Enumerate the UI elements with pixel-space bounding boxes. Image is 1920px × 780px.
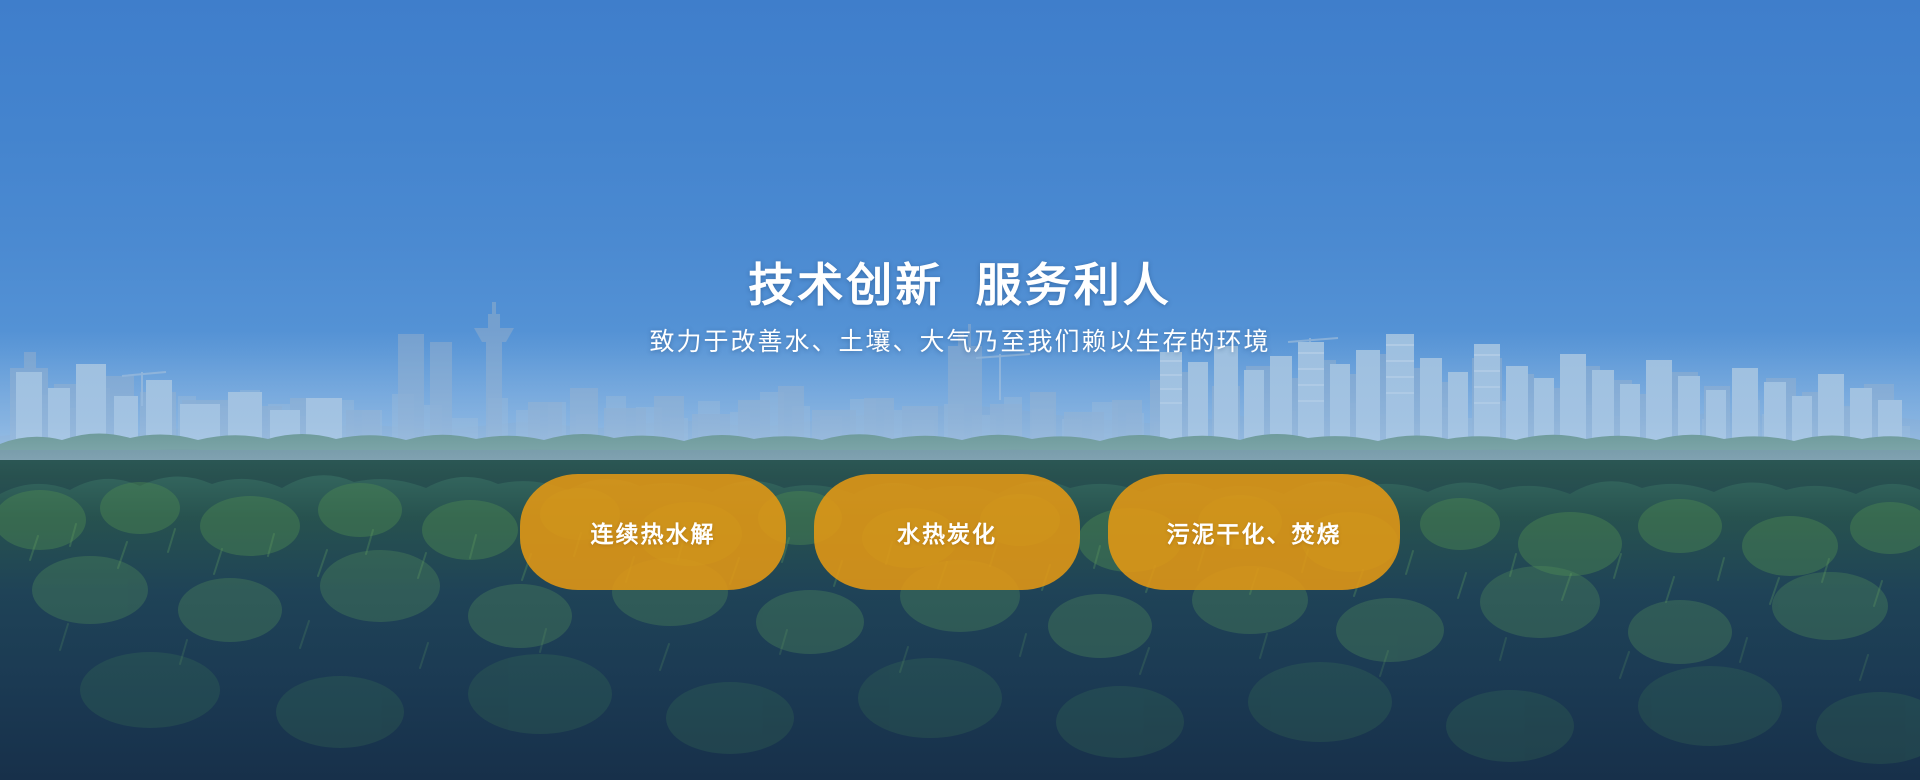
service-pill-sludge-drying-incineration[interactable]: 污泥干化、焚烧 [1108,474,1400,590]
hero-banner: 技术创新 服务利人 致力于改善水、土壤、大气乃至我们赖以生存的环境 连续热水解 … [0,0,1920,780]
hero-copy: 技术创新 服务利人 致力于改善水、土壤、大气乃至我们赖以生存的环境 [0,258,1920,360]
page-title: 技术创新 服务利人 [0,258,1920,312]
page-subtitle: 致力于改善水、土壤、大气乃至我们赖以生存的环境 [0,326,1920,360]
service-pill-hydrothermal-carbonization[interactable]: 水热炭化 [814,474,1080,590]
service-pill-continuous-thermal-hydrolysis[interactable]: 连续热水解 [520,474,786,590]
service-pill-row: 连续热水解 水热炭化 污泥干化、焚烧 [0,474,1920,590]
